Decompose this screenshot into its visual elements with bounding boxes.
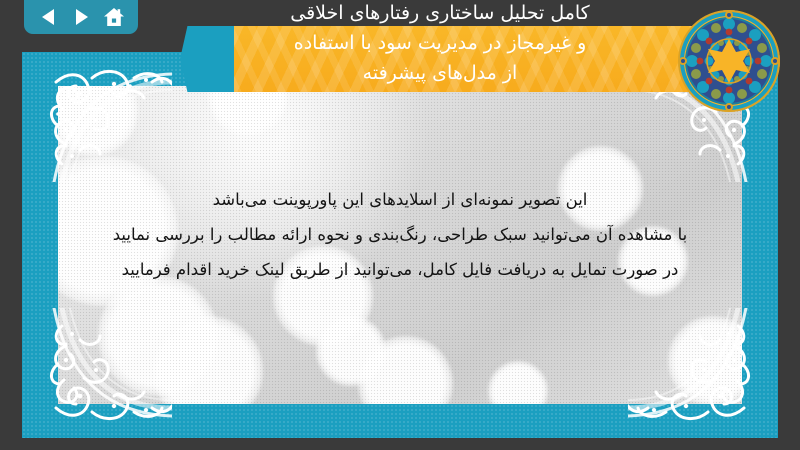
title-line-1: کامل تحلیل ساختاری رفتارهای اخلاقی <box>180 0 700 28</box>
title-banner <box>180 26 740 92</box>
navigation-bar <box>24 0 138 34</box>
body-line-2: با مشاهده آن می‌توانید سبک طراحی، رنگ‌بن… <box>62 217 738 252</box>
slide-body-text: این تصویر نمونه‌ای از اسلایدهای این پاور… <box>62 182 738 287</box>
nav-home-button[interactable] <box>101 5 127 29</box>
nav-forward-button[interactable] <box>68 5 94 29</box>
nav-back-button[interactable] <box>35 5 61 29</box>
home-icon <box>103 7 125 27</box>
banner-chevron-pattern <box>234 26 740 92</box>
triangle-left-icon <box>40 8 57 26</box>
body-line-1: این تصویر نمونه‌ای از اسلایدهای این پاور… <box>62 182 738 217</box>
content-frame: این تصویر نمونه‌ای از اسلایدهای این پاور… <box>22 52 778 438</box>
ornament-medallion <box>676 8 782 114</box>
body-line-3: در صورت تمایل به دریافت فایل کامل، می‌تو… <box>62 252 738 287</box>
triangle-right-icon <box>73 8 90 26</box>
banner-arrow-tail <box>180 26 242 92</box>
banner-body <box>234 26 740 92</box>
